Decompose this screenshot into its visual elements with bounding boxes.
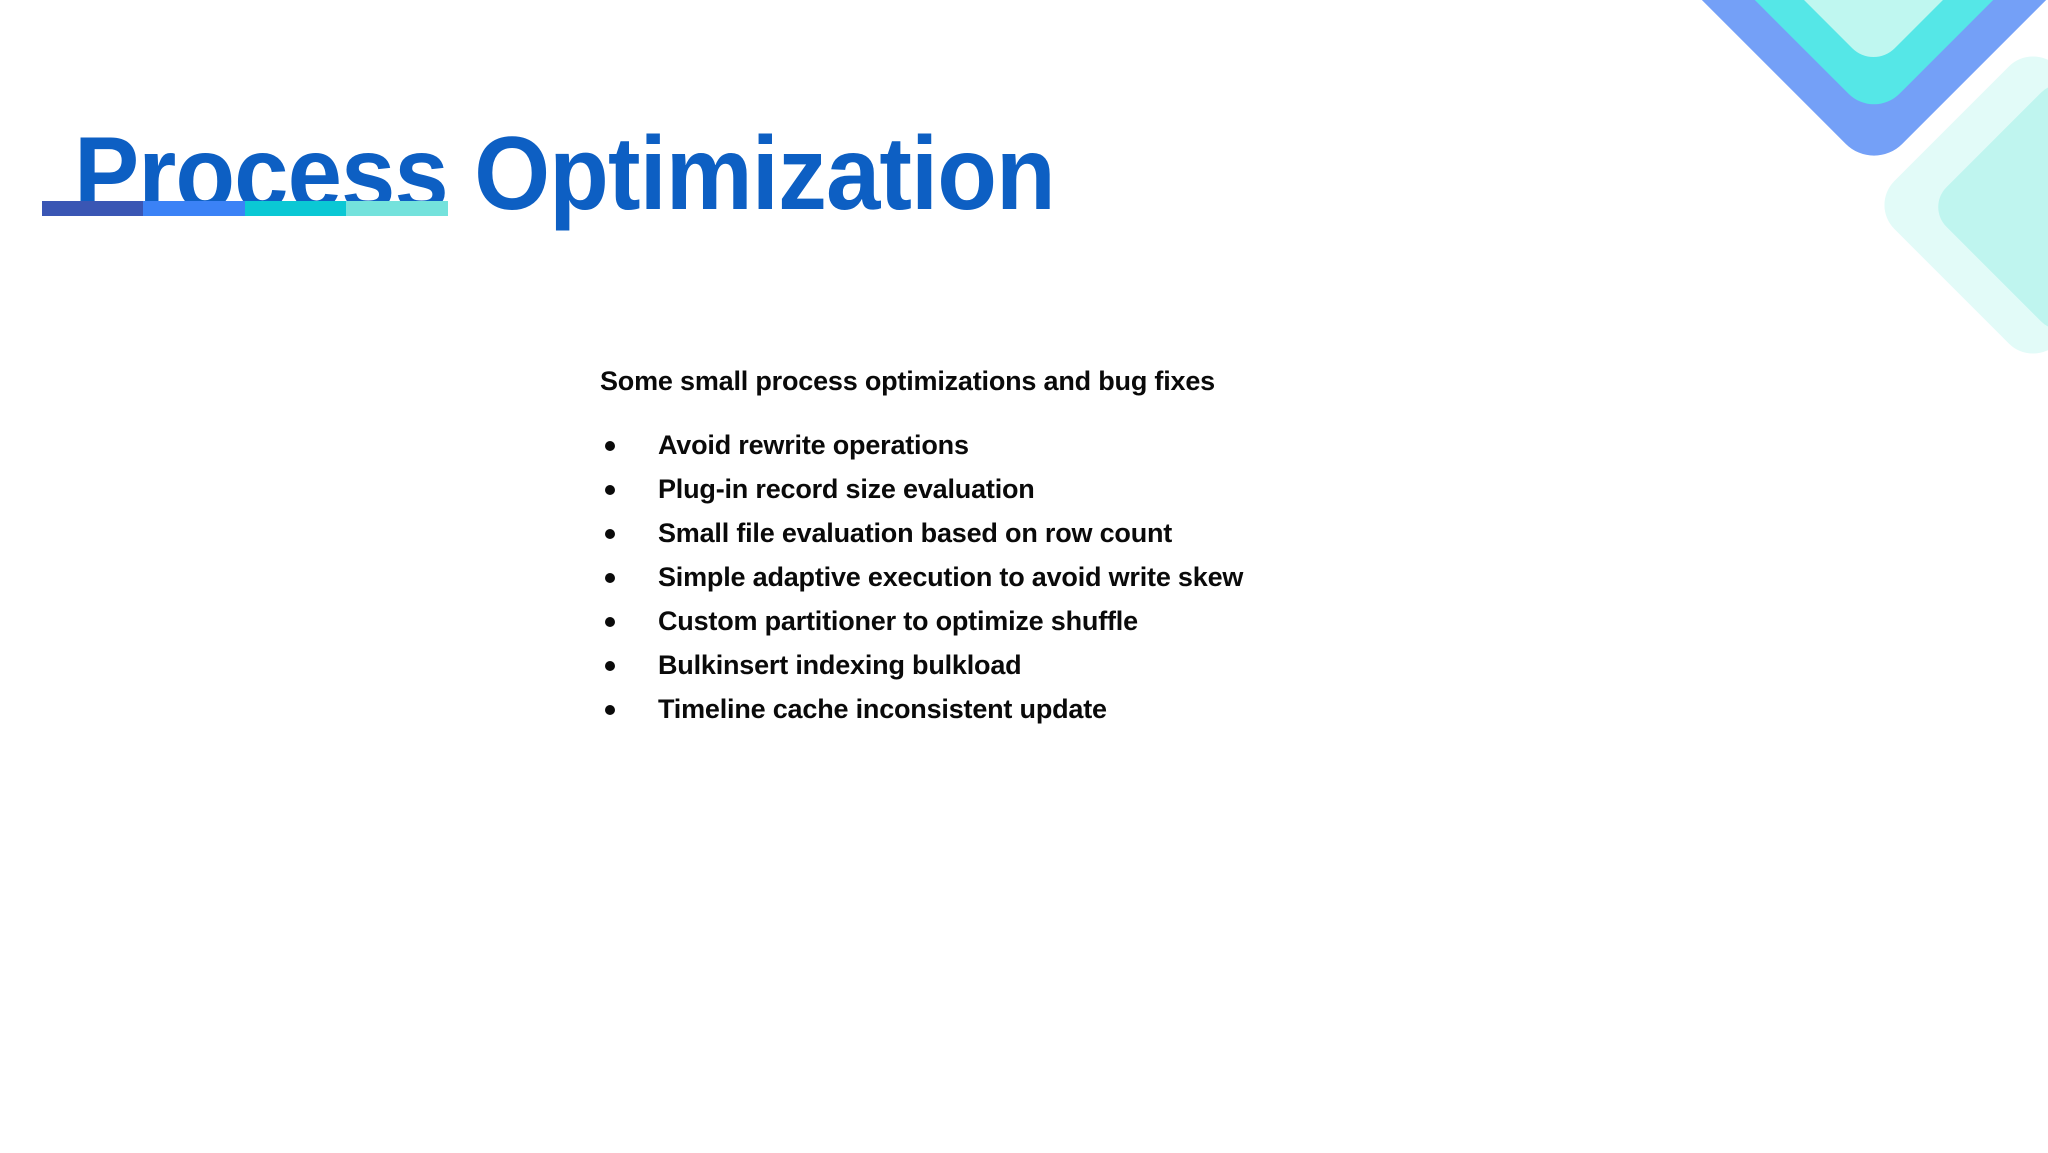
body-lead-text: Some small process optimizations and bug… <box>600 366 1750 397</box>
bullet-list: Avoid rewrite operations Plug-in record … <box>600 423 1750 731</box>
list-item-label: Avoid rewrite operations <box>658 430 969 460</box>
list-item: Custom partitioner to optimize shuffle <box>600 599 1750 643</box>
chevron-pale-outer-icon <box>1870 42 2048 367</box>
accent-segment-mint <box>346 201 448 216</box>
chevron-blue-icon <box>1662 0 2048 172</box>
accent-segment-cyan <box>245 201 346 216</box>
list-item: Plug-in record size evaluation <box>600 467 1750 511</box>
chevron-pale-inner-icon <box>1927 73 2048 342</box>
accent-bar <box>42 201 448 216</box>
bullet-dot-icon <box>605 529 615 539</box>
chevron-mint-core-icon <box>1729 0 2019 69</box>
slide-canvas: Process Optimization Some small process … <box>0 0 2048 1153</box>
list-item-label: Custom partitioner to optimize shuffle <box>658 606 1138 636</box>
list-item-label: Timeline cache inconsistent update <box>658 694 1107 724</box>
list-item: Timeline cache inconsistent update <box>600 687 1750 731</box>
bullet-dot-icon <box>605 661 615 671</box>
bullet-dot-icon <box>605 705 615 715</box>
list-item: Avoid rewrite operations <box>600 423 1750 467</box>
list-item: Bulkinsert indexing bulkload <box>600 643 1750 687</box>
bullet-dot-icon <box>605 617 615 627</box>
bullet-dot-icon <box>605 573 615 583</box>
bullet-dot-icon <box>605 485 615 495</box>
bullet-dot-icon <box>605 441 615 451</box>
list-item-label: Simple adaptive execution to avoid write… <box>658 562 1243 592</box>
list-item-label: Bulkinsert indexing bulkload <box>658 650 1021 680</box>
list-item-label: Small file evaluation based on row count <box>658 518 1172 548</box>
chevron-cyan-icon <box>1696 0 2048 119</box>
corner-decoration <box>1628 0 2048 330</box>
list-item: Small file evaluation based on row count <box>600 511 1750 555</box>
list-item-label: Plug-in record size evaluation <box>658 474 1035 504</box>
slide-body: Some small process optimizations and bug… <box>600 366 1750 731</box>
list-item: Simple adaptive execution to avoid write… <box>600 555 1750 599</box>
accent-segment-blue <box>143 201 245 216</box>
accent-segment-indigo <box>42 201 143 216</box>
